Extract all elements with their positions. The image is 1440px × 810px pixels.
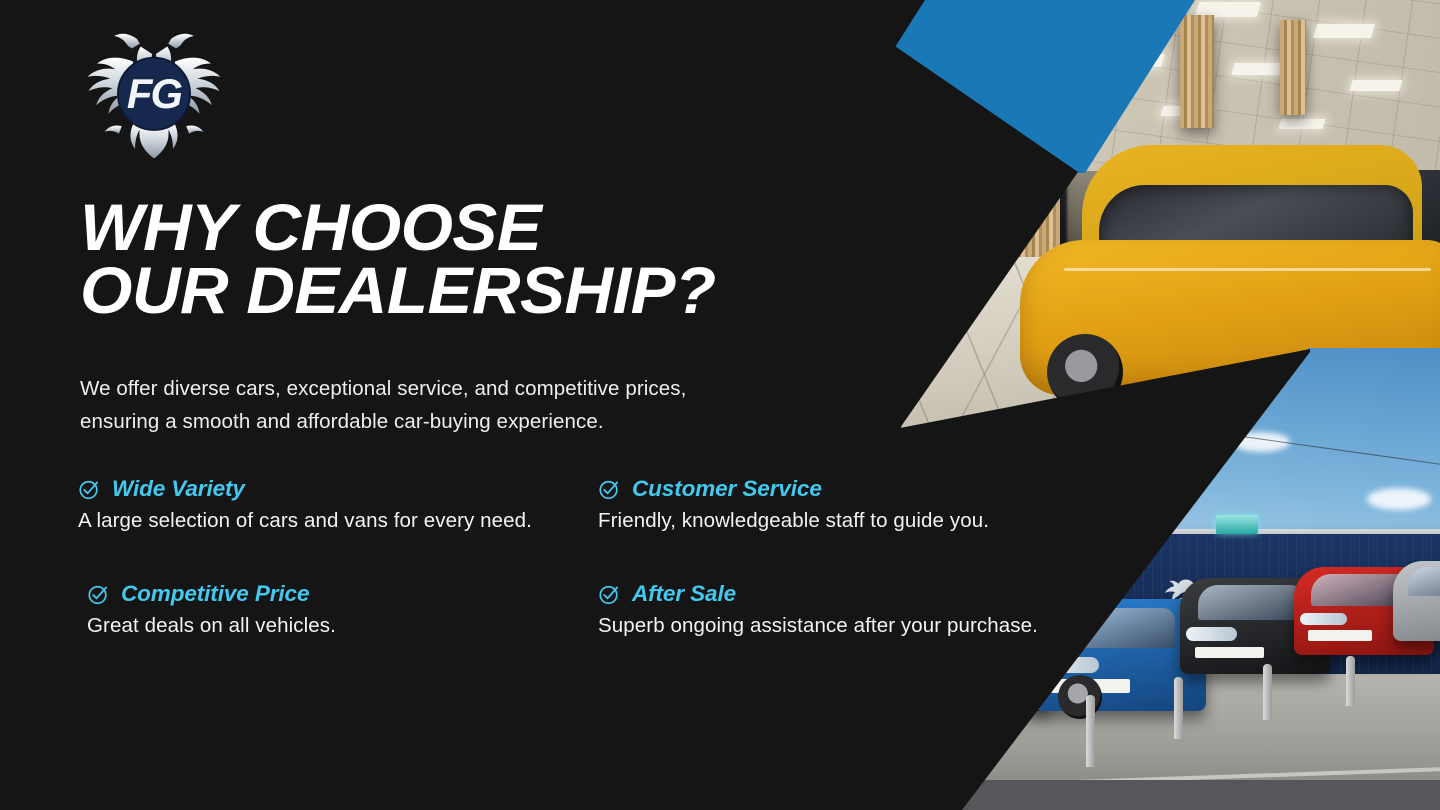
fg-double-headed-eagle-crest-icon: FG	[78, 18, 230, 166]
headline-line-1: WHY CHOOSE	[80, 196, 855, 259]
feature-description: A large selection of cars and vans for e…	[78, 509, 598, 533]
feature-heading: After Sale	[598, 581, 1098, 607]
feature-customer-service: Customer Service Friendly, knowledgeable…	[598, 476, 1098, 533]
check-circle-icon	[598, 478, 621, 501]
feature-heading: Customer Service	[598, 476, 1098, 502]
feature-heading: Competitive Price	[87, 581, 598, 607]
feature-wide-variety: Wide Variety A large selection of cars a…	[78, 476, 598, 533]
check-circle-icon	[598, 583, 621, 606]
page-title: WHY CHOOSE OUR DEALERSHIP?	[80, 196, 855, 323]
svg-text:FG: FG	[127, 70, 183, 117]
content-layer: FG WHY CHOOSE OUR DEALERSHIP? We offer d…	[0, 0, 1440, 810]
feature-competitive-price: Competitive Price Great deals on all veh…	[78, 581, 598, 638]
feature-title: Competitive Price	[121, 581, 309, 607]
intro-line-1: We offer diverse cars, exceptional servi…	[80, 372, 820, 405]
feature-description: Great deals on all vehicles.	[87, 614, 598, 638]
feature-description: Superb ongoing assistance after your pur…	[598, 614, 1098, 638]
intro-line-2: ensuring a smooth and affordable car-buy…	[80, 405, 820, 438]
feature-heading: Wide Variety	[78, 476, 598, 502]
feature-after-sale: After Sale Superb ongoing assistance aft…	[598, 581, 1098, 638]
headline-line-2: OUR DEALERSHIP?	[80, 259, 855, 322]
feature-title: After Sale	[632, 581, 736, 607]
feature-description: Friendly, knowledgeable staff to guide y…	[598, 509, 1098, 533]
feature-title: Wide Variety	[112, 476, 245, 502]
marketing-slide: FG	[0, 0, 1440, 810]
feature-list: Wide Variety A large selection of cars a…	[78, 476, 1108, 638]
intro-paragraph: We offer diverse cars, exceptional servi…	[80, 372, 820, 438]
feature-title: Customer Service	[632, 476, 822, 502]
check-circle-icon	[87, 583, 110, 606]
check-circle-icon	[78, 478, 101, 501]
